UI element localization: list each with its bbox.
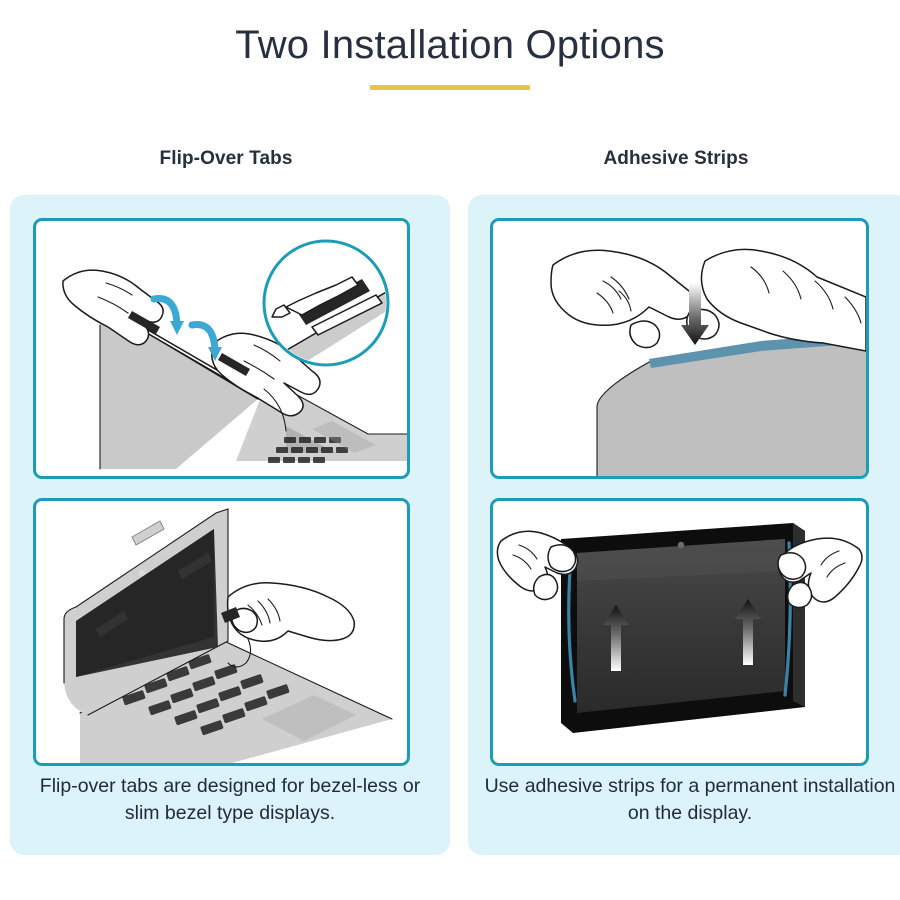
illustration-card-hands-folding-tabs — [33, 218, 410, 479]
hands-pressing-adhesive-strip-illustration — [493, 221, 866, 476]
page-title: Two Installation Options — [0, 22, 900, 68]
illustration-card-removing-filter-from-laptop — [33, 498, 410, 766]
installation-options-infographic: Two Installation Options Flip-Over Tabs … — [0, 0, 900, 900]
title-block: Two Installation Options — [0, 22, 900, 90]
panel-adhesive-strips: Use adhesive strips for a permanent inst… — [468, 195, 900, 855]
panel-flip-over-tabs: Flip-over tabs are designed for bezel-le… — [10, 195, 450, 855]
column-heading-flip-over-tabs: Flip-Over Tabs — [0, 148, 452, 170]
title-underline-rule — [370, 85, 530, 90]
illustration-card-peeling-adhesive-liners — [490, 498, 869, 766]
hands-folding-flip-over-tabs-illustration — [36, 221, 407, 476]
hand-removing-privacy-filter-illustration — [36, 501, 407, 763]
column-heading-adhesive-strips: Adhesive Strips — [452, 148, 900, 170]
caption-flip-over-tabs: Flip-over tabs are designed for bezel-le… — [24, 773, 436, 828]
hands-peeling-adhesive-liners-illustration — [493, 501, 866, 763]
illustration-card-pressing-adhesive-strip — [490, 218, 869, 479]
caption-adhesive-strips: Use adhesive strips for a permanent inst… — [482, 773, 898, 828]
